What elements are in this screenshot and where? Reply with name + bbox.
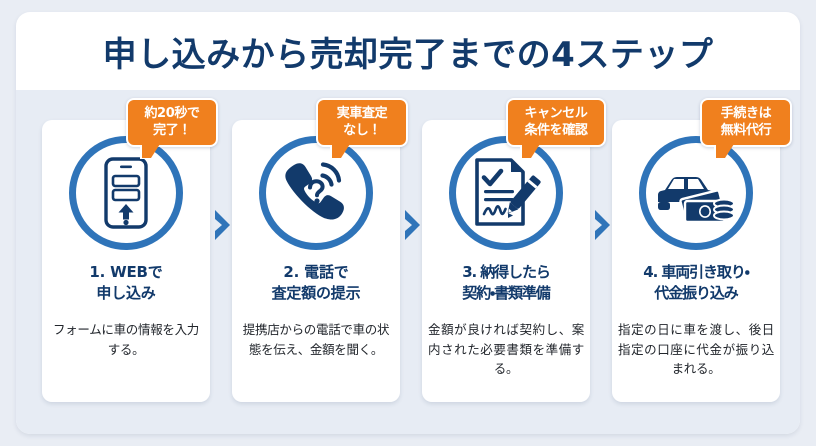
step-1-description: フォームに車の情報を入力する。 xyxy=(48,320,204,359)
chevron-right-icon xyxy=(212,208,234,242)
step-1-icon-circle xyxy=(69,136,183,250)
step-3-badge-line1: キャンセル xyxy=(508,105,604,122)
chevron-right-icon xyxy=(402,208,424,242)
step-4-heading: 4. 車両引き取り・ 代金振り込み xyxy=(616,262,776,305)
step-2-heading: 2. 電話で 査定額の提示 xyxy=(236,262,396,305)
page-title: 申し込みから売却完了までの4ステップ xyxy=(103,27,714,76)
step-4-badge: 手続きは 無料代行 xyxy=(700,98,792,147)
step-2-heading-line1: 2. 電話で xyxy=(236,262,396,283)
badge-tail xyxy=(142,144,160,158)
steps-area: 1. WEBで 申し込み フォームに車の情報を入力する。 xyxy=(16,90,800,434)
step-4-badge-line1: 手続きは xyxy=(702,105,790,122)
step-4-description: 指定の日に車を渡し、後日指定の口座に代金が振り込まれる。 xyxy=(618,320,774,379)
step-3-heading: 3. 納得したら 契約・書類準備 xyxy=(426,262,586,305)
badge-tail xyxy=(332,144,350,158)
step-3-heading-line1: 3. 納得したら xyxy=(426,262,586,283)
step-3-icon-circle xyxy=(449,136,563,250)
step-2-heading-line2: 査定額の提示 xyxy=(236,283,396,304)
step-3-description: 金額が良ければ契約し、案内された必要書類を準備する。 xyxy=(428,320,584,379)
infographic-panel: 申し込みから売却完了までの4ステップ 1. WEBで xyxy=(16,12,800,434)
step-3-badge-line2: 条件を確認 xyxy=(508,122,604,139)
step-3-heading-line2: 契約・書類準備 xyxy=(426,283,586,304)
step-4-heading-line2: 代金振り込み xyxy=(616,283,776,304)
step-card-1[interactable]: 1. WEBで 申し込み フォームに車の情報を入力する。 xyxy=(42,120,210,402)
step-2-icon-circle xyxy=(259,136,373,250)
step-4-badge-line2: 無料代行 xyxy=(702,122,790,139)
step-card-3[interactable]: 3. 納得したら 契約・書類準備 金額が良ければ契約し、案内された必要書類を準備… xyxy=(422,120,590,402)
step-1-badge: 約20秒で 完了！ xyxy=(126,98,218,147)
step-4-icon-circle xyxy=(639,136,753,250)
step-1-heading-line1: 1. WEBで xyxy=(46,262,206,283)
step-2-description: 提携店からの電話で車の状態を伝え、金額を聞く。 xyxy=(238,320,394,359)
chevron-right-icon xyxy=(592,208,614,242)
step-3-badge: キャンセル 条件を確認 xyxy=(506,98,606,147)
step-2-badge-line1: 実車査定 xyxy=(318,105,406,122)
step-card-2[interactable]: 2. 電話で 査定額の提示 提携店からの電話で車の状態を伝え、金額を聞く。 xyxy=(232,120,400,402)
title-bar: 申し込みから売却完了までの4ステップ xyxy=(16,12,800,90)
badge-tail xyxy=(716,144,734,158)
step-4-heading-line1: 4. 車両引き取り・ xyxy=(616,262,776,283)
step-2-badge-line2: なし！ xyxy=(318,122,406,139)
step-1-heading-line2: 申し込み xyxy=(46,283,206,304)
step-1-heading: 1. WEBで 申し込み xyxy=(46,262,206,305)
step-2-badge: 実車査定 なし！ xyxy=(316,98,408,147)
step-1-badge-line2: 完了！ xyxy=(128,122,216,139)
step-1-badge-line1: 約20秒で xyxy=(128,105,216,122)
badge-tail xyxy=(522,144,540,158)
step-card-4[interactable]: 4. 車両引き取り・ 代金振り込み 指定の日に車を渡し、後日指定の口座に代金が振… xyxy=(612,120,780,402)
